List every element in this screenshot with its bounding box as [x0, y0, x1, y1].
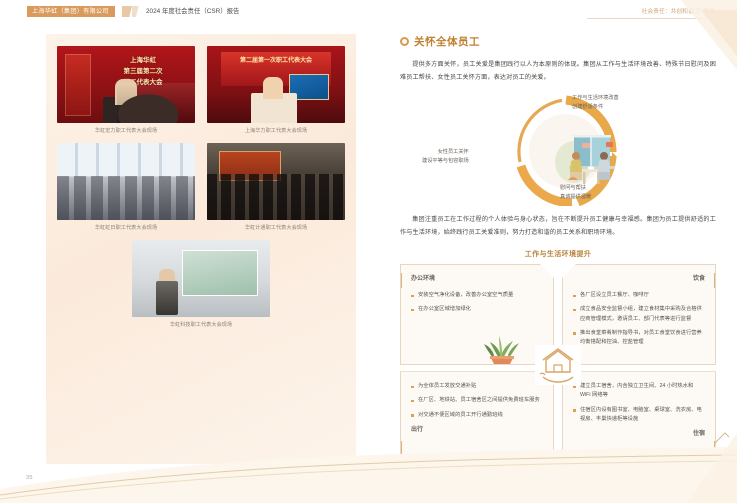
card-bullet-list: 安装空气净化设备，改善办公室空气质量 在办公室区域增加绿化	[411, 291, 543, 314]
photo-image-5	[132, 240, 270, 317]
photo-board: 上海华虹第三届第二次职工代表大会 华虹宏力职工代表大会现场 第二届第一次职工代表…	[46, 34, 356, 464]
company-tag: 上海华虹（集团）有限公司	[27, 6, 115, 17]
photo-banner-text-2: 第二届第一次职工代表大会	[207, 56, 345, 66]
circular-infographic: 工作与生活环境改善 创建舒适条件 慰问与帮扶 真诚提供温暖 女性员工关怀 建设平…	[400, 90, 716, 210]
photo-grid: 上海华虹第三届第二次职工代表大会 华虹宏力职工代表大会现场 第二届第一次职工代表…	[57, 46, 345, 329]
infographic-label-left: 女性员工关怀 建设平等与包容职场	[422, 148, 469, 165]
cards-center-badge	[535, 345, 581, 385]
card-bullet-list: 为全体员工发放交通补贴 在厂区、地铁站、员工宿舍区之间提供免费班车服务 对交通不…	[411, 382, 543, 420]
cards-section-title: 工作与生活环境提升	[400, 249, 716, 259]
card-bullet: 在厂区、地铁站、员工宿舍区之间提供免费班车服务	[411, 396, 543, 405]
photo-caption: 上海华力职工代表大会现场	[207, 127, 345, 135]
photo-cell-1: 上海华虹第三届第二次职工代表大会 华虹宏力职工代表大会现场	[57, 46, 195, 135]
card-dining: 饮食 各厂区设立员工餐厅、咖啡厅 成立食品安全监督小组，建立食材集中采购及合格供…	[562, 264, 716, 365]
photo-caption: 华虹虹日职工代表大会现场	[57, 224, 195, 232]
infographic-label-line1: 女性员工关怀	[438, 149, 469, 155]
photo-person-5	[159, 269, 175, 287]
house-in-hand-icon	[537, 347, 579, 383]
card-bullet: 各厂区设立员工餐厅、咖啡厅	[573, 291, 705, 300]
card-heading: 办公环境	[411, 275, 543, 284]
photo-cell-2: 第二届第一次职工代表大会 上海华力职工代表大会现场	[207, 46, 345, 135]
card-bullet: 建立员工宿舍，内含独立卫生间、24 小时热水和 WiFi 网络等	[573, 382, 705, 400]
infographic-label-line1: 慰问与帮扶	[560, 185, 586, 191]
photo-image-4	[207, 143, 345, 220]
illustration-employees-at-table	[552, 128, 630, 188]
photo-banner-text-1: 上海华虹第三届第二次职工代表大会	[97, 55, 189, 88]
photo-row-3: 华虹科技职工代表大会现场	[57, 240, 345, 329]
photo-podium-1	[103, 97, 155, 123]
section-paragraph-2: 集团注重员工在工作过程的个人体验与身心状态，旨在不断提升员工健康与幸福感。集团为…	[400, 214, 716, 239]
infographic-label-line2: 真诚提供温暖	[560, 194, 591, 200]
photo-cell-5: 华虹科技职工代表大会现场	[132, 240, 270, 329]
infographic-label-top-right: 工作与生活环境改善 创建舒适条件	[572, 94, 619, 111]
photo-person-2	[263, 77, 283, 99]
photo-caption: 华虹计通职工代表大会现场	[207, 224, 345, 232]
card-office-environment: 办公环境 安装空气净化设备，改善办公室空气质量 在办公室区域增加绿化	[400, 264, 554, 365]
card-accent-bar	[714, 273, 715, 288]
photo-caption: 华虹宏力职工代表大会现场	[57, 127, 195, 135]
content-column: 关怀全体员工 提供多方面关怀，员工关爱是集团践行以人为本原则的体现。集团从工作与…	[400, 34, 716, 465]
infographic-label-bottom-right: 慰问与帮扶 真诚提供温暖	[560, 184, 591, 201]
photo-image-2: 第二届第一次职工代表大会	[207, 46, 345, 123]
company-tag-tail-secondary	[132, 6, 144, 17]
photo-image-3	[57, 143, 195, 220]
report-title: 2024 年度社会责任（CSR）报告	[146, 6, 239, 17]
card-bullet-list: 各厂区设立员工餐厅、咖啡厅 成立食品安全监督小组，建立食材集中采购及合格供应商管…	[573, 291, 705, 347]
corner-ornament-bottom-right	[617, 413, 737, 503]
section-heading: 关怀全体员工	[400, 34, 716, 49]
infographic-label-line1: 工作与生活环境改善	[572, 95, 619, 101]
plant-icon	[479, 318, 523, 364]
photo-caption: 华虹科技职工代表大会现场	[132, 321, 270, 329]
ring-bullet-icon	[400, 37, 409, 46]
photo-row-1: 上海华虹第三届第二次职工代表大会 华虹宏力职工代表大会现场 第二届第一次职工代表…	[57, 46, 345, 135]
section-paragraph-1: 提供多方面关怀，员工关爱是集团践行以人为本原则的体现。集团从工作与生活环境改善、…	[400, 59, 716, 84]
photo-row-2: 华虹虹日职工代表大会现场 华虹计通职工代表大会现场	[57, 143, 345, 232]
card-heading: 饮食	[573, 275, 705, 284]
report-page: 上海华虹（集团）有限公司 2024 年度社会责任（CSR）报告 社会责任：共创和…	[0, 0, 737, 503]
card-bullet: 安装空气净化设备，改善办公室空气质量	[411, 291, 543, 300]
card-bullet: 成立食品安全监督小组，建立食材集中采购及合格供应商管理模式，邀请员工、部门代表等…	[573, 305, 705, 323]
page-header: 上海华虹（集团）有限公司 2024 年度社会责任（CSR）报告 社会责任：共创和…	[0, 0, 737, 24]
card-bullet: 对交通不便区域的员工开行通勤班线	[411, 411, 543, 420]
card-bullet: 推出食堂菜肴制作指导书，对员工食堂饮食进行营养均衡搭配和控油、控盐管理	[573, 329, 705, 347]
photo-cell-4: 华虹计通职工代表大会现场	[207, 143, 345, 232]
section-title-text: 关怀全体员工	[414, 34, 480, 49]
photo-person-1	[115, 79, 137, 105]
infographic-label-line2: 建设平等与包容职场	[422, 158, 469, 164]
photo-image-1: 上海华虹第三届第二次职工代表大会	[57, 46, 195, 123]
card-bullet: 在办公室区域增加绿化	[411, 305, 543, 314]
card-accent-bar	[401, 273, 402, 288]
card-bullet: 为全体员工发放交通补贴	[411, 382, 543, 391]
photo-cell-3: 华虹虹日职工代表大会现场	[57, 143, 195, 232]
card-heading: 出行	[411, 426, 543, 435]
infographic-label-line2: 创建舒适条件	[572, 104, 603, 110]
